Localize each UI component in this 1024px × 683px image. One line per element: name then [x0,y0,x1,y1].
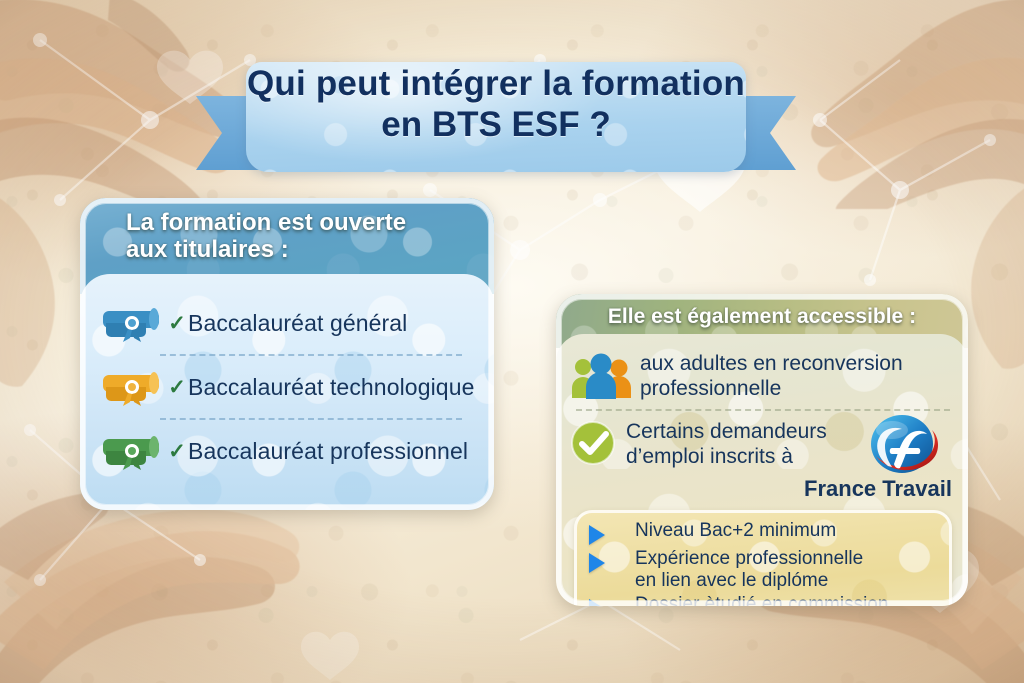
infographic-poster: Qui peut intégrer la formation en BTS ES… [0,0,1024,683]
criteria-3-line-1: Dossier ètudié en commission [635,594,888,606]
clasped-hands-illustration-top-right [786,0,1024,209]
adults-line-1: aux adultes en reconversion [640,352,903,375]
triangle-bullet-icon [589,553,627,573]
list-item-france-travail: Certains demandeurs d’emploi inscrits à [570,416,956,502]
france-travail-logo [854,410,950,482]
criteria-2-line-1: Expérience professionnelle [635,548,863,569]
page-title: Qui peut intégrer la formation en BTS ES… [196,66,796,142]
right-panel-also-accessible: Elle est également accessible : [556,294,968,606]
criteria-2-line-2: en lien avec le diplóme [635,570,828,591]
left-panel-body: ✓ Baccalauréat général [80,286,494,494]
list-item-label: Baccalauréat général [188,310,407,337]
france-travail-label: France Travail [804,476,952,502]
criteria-list: Niveau Bac+2 minimum Expérience professi… [577,513,949,606]
criteria-text: Dossier ètudié en commission [635,594,888,606]
list-item-label: Baccalauréat technologique [188,374,474,401]
left-panel-header: La formation est ouverte aux titulaires … [80,198,494,264]
check-icon: ✓ [166,441,188,462]
diploma-scroll-icon [102,431,164,471]
criteria-text: Expérience professionnelle en lien avec … [635,548,863,592]
left-panel-heading: La formation est ouverte aux titulaires … [80,210,494,264]
right-panel-body: aux adultes en reconversion professionne… [556,344,968,598]
criteria-item: Dossier ètudié en commission [577,594,949,606]
left-panel-heading-line-1: La formation est ouverte [126,210,494,237]
criteria-1-line-1: Niveau Bac+2 minimum [635,520,836,541]
list-item-text: Certains demandeurs d’emploi inscrits à [626,420,827,470]
title-ribbon-banner: Qui peut intégrer la formation en BTS ES… [196,52,796,180]
list-item: ✓ Baccalauréat général [102,292,476,354]
triangle-bullet-icon [589,599,627,606]
right-panel-header: Elle est également accessible : [556,294,968,329]
check-icon: ✓ [166,377,188,398]
right-panel-heading: Elle est également accessible : [556,305,968,329]
triangle-bullet-icon [589,525,627,545]
criteria-item: Expérience professionnelle en lien avec … [577,548,949,592]
list-item-text: aux adultes en reconversion professionne… [640,352,903,402]
list-item: ✓ Baccalauréat professionnel [102,420,476,482]
list-item-label: Baccalauréat professionnel [188,438,468,465]
left-panel-heading-line-2: aux titulaires : [126,237,494,264]
check-icon: ✓ [166,313,188,334]
page-title-line-1: Qui peut intégrer la formation [196,66,796,102]
three-people-icon [570,352,632,402]
page-title-line-2: en BTS ESF ? [196,107,796,143]
list-item: ✓ Baccalauréat technologique [102,356,476,418]
criteria-text: Niveau Bac+2 minimum [635,520,836,542]
france-travail-line-2: d’emploi inscrits à [626,445,793,468]
diploma-scroll-icon [102,303,164,343]
criteria-item: Niveau Bac+2 minimum [577,520,949,545]
list-item-adults-reconversion: aux adultes en reconversion professionne… [570,348,956,404]
adults-line-2: professionnelle [640,377,781,400]
france-travail-line-1: Certains demandeurs [626,420,827,443]
green-check-circle-icon [570,420,616,466]
criteria-box: Niveau Bac+2 minimum Expérience professi… [574,510,952,606]
diploma-scroll-icon [102,367,164,407]
left-panel-open-to-holders: La formation est ouverte aux titulaires … [80,198,494,510]
